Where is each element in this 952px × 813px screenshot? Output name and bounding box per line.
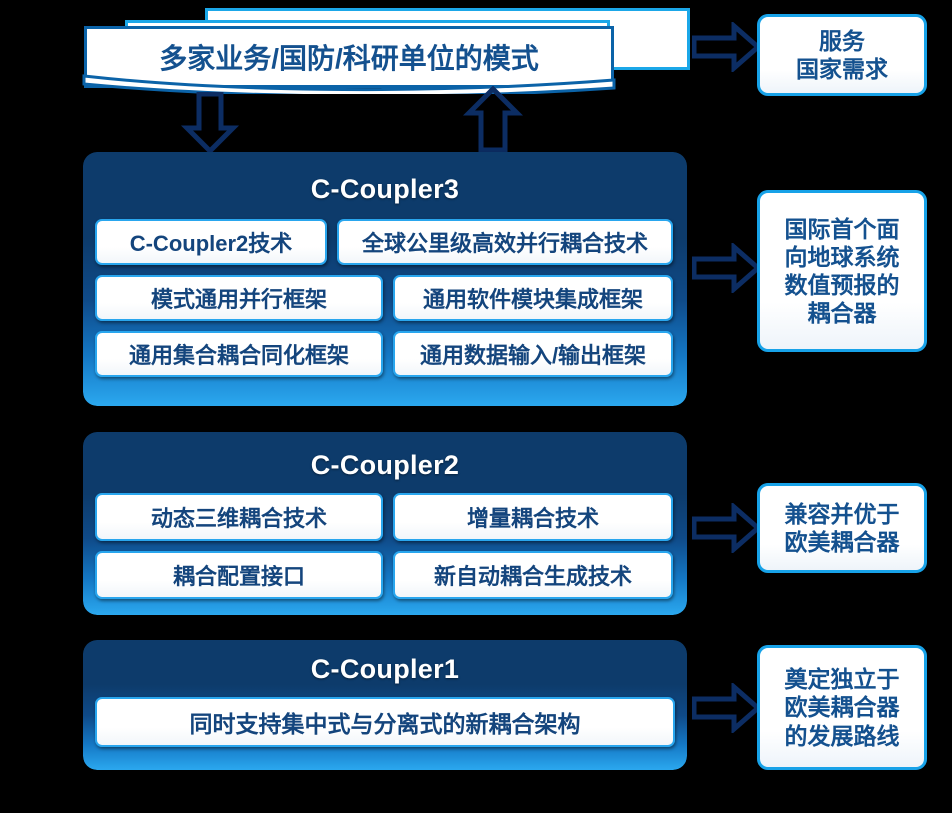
outcome-first-coupler[interactable]: 国际首个面 向地球系统 数值预报的 耦合器 (757, 190, 927, 352)
outcome-line: 向地球系统 (785, 243, 900, 271)
outcome-line: 耦合器 (785, 299, 900, 327)
outcome-line: 国家需求 (796, 55, 888, 83)
tech-chip[interactable]: 通用软件模块集成框架 (393, 275, 673, 321)
outcome-line: 欧美耦合器 (785, 528, 900, 556)
outcome-line: 欧美耦合器 (785, 693, 900, 721)
tech-chip[interactable]: 动态三维耦合技术 (95, 493, 383, 541)
outcome-line: 国际首个面 (785, 215, 900, 243)
panel-c-coupler2[interactable]: C-Coupler2 动态三维耦合技术 增量耦合技术 耦合配置接口 新自动耦合生… (83, 432, 687, 615)
panel-row: C-Coupler2技术 全球公里级高效并行耦合技术 (83, 219, 687, 265)
tech-chip[interactable]: 模式通用并行框架 (95, 275, 383, 321)
outcome-compatible[interactable]: 兼容并优于 欧美耦合器 (757, 483, 927, 573)
stack-sheet-front[interactable]: 多家业务/国防/科研单位的模式 (84, 26, 614, 88)
panel-c-coupler1[interactable]: C-Coupler1 同时支持集中式与分离式的新耦合架构 (83, 640, 687, 770)
panel-title-c-coupler3: C-Coupler3 (83, 174, 687, 205)
outcome-line: 兼容并优于 (785, 500, 900, 528)
panel-title-c-coupler2: C-Coupler2 (83, 450, 687, 481)
panel-row: 同时支持集中式与分离式的新耦合架构 (83, 697, 687, 747)
source-models-stack: 多家业务/国防/科研单位的模式 (80, 4, 710, 94)
panel-title-c-coupler1: C-Coupler1 (83, 654, 687, 685)
tech-chip[interactable]: 通用数据输入/输出框架 (393, 331, 673, 377)
arrow-c2-to-outcome (692, 503, 762, 553)
tech-chip[interactable]: C-Coupler2技术 (95, 219, 327, 265)
arrow-c3-up-to-stack (463, 86, 523, 154)
arrow-stack-to-outcome (692, 22, 762, 72)
diagram-canvas: 多家业务/国防/科研单位的模式 服务 国家需求 C-Coupler3 (0, 0, 952, 813)
outcome-line: 的发展路线 (785, 722, 900, 750)
arrow-c1-to-outcome (692, 683, 762, 733)
stack-label: 多家业务/国防/科研单位的模式 (159, 37, 539, 77)
outcome-line: 奠定独立于 (785, 665, 900, 693)
tech-chip[interactable]: 同时支持集中式与分离式的新耦合架构 (95, 697, 675, 747)
outcome-national-need[interactable]: 服务 国家需求 (757, 14, 927, 96)
panel-row: 模式通用并行框架 通用软件模块集成框架 (83, 275, 687, 321)
outcome-line: 服务 (796, 27, 888, 55)
outcome-line: 数值预报的 (785, 271, 900, 299)
tech-chip[interactable]: 耦合配置接口 (95, 551, 383, 599)
panel-row: 动态三维耦合技术 增量耦合技术 (83, 493, 687, 541)
panel-row: 耦合配置接口 新自动耦合生成技术 (83, 551, 687, 599)
tech-chip[interactable]: 新自动耦合生成技术 (393, 551, 673, 599)
tech-chip[interactable]: 增量耦合技术 (393, 493, 673, 541)
outcome-independent-path[interactable]: 奠定独立于 欧美耦合器 的发展路线 (757, 645, 927, 770)
arrow-stack-down-to-c3 (180, 92, 240, 154)
panel-row: 通用集合耦合同化框架 通用数据输入/输出框架 (83, 331, 687, 377)
arrow-c3-to-outcome (692, 243, 762, 293)
tech-chip[interactable]: 全球公里级高效并行耦合技术 (337, 219, 673, 265)
panel-c-coupler3[interactable]: C-Coupler3 C-Coupler2技术 全球公里级高效并行耦合技术 模式… (83, 152, 687, 406)
tech-chip[interactable]: 通用集合耦合同化框架 (95, 331, 383, 377)
